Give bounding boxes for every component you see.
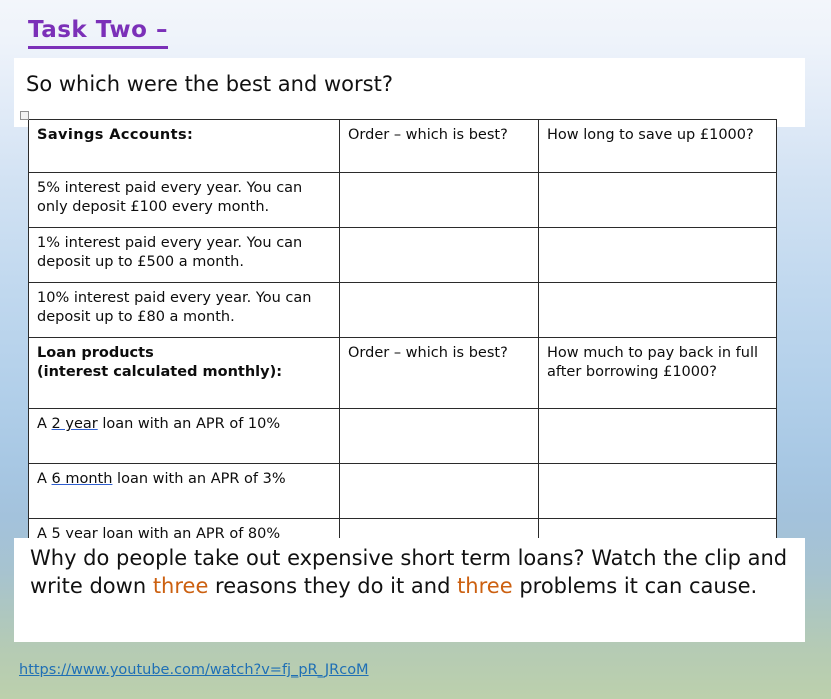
table-row: A 2 year loan with an APR of 10% [29,409,777,464]
savings-order-cell[interactable] [340,283,539,338]
loan-description: A 2 year loan with an APR of 10% [29,409,340,464]
loan-suffix: loan with an APR of 10% [98,416,280,432]
table-row: 10% interest paid every year. You can de… [29,283,777,338]
table-row-loan-header: Loan products (interest calculated month… [29,338,777,409]
loan-answer-cell[interactable] [539,409,777,464]
savings-header-duration: How long to save up £1000? [539,120,777,173]
savings-header-label: Savings Accounts: [29,120,340,173]
loan-term: 2 year [52,416,98,432]
loan-term: 6 month [52,471,113,487]
loan-header-label: Loan products (interest calculated month… [29,338,340,409]
slide-title-block: Task Two – [28,18,448,49]
savings-description: 5% interest paid every year. You can onl… [29,173,340,228]
table-row: A 6 month loan with an APR of 3% [29,464,777,519]
intro-panel: So which were the best and worst? [14,58,805,127]
savings-header-order: Order – which is best? [340,120,539,173]
loan-suffix: loan with an APR of 3% [112,471,285,487]
task-emphasis-1: three [153,574,209,598]
loan-answer-cell[interactable] [539,464,777,519]
loan-order-cell[interactable] [340,464,539,519]
loan-header-repayment: How much to pay back in full after borro… [539,338,777,409]
loan-order-cell[interactable] [340,409,539,464]
savings-description: 10% interest paid every year. You can de… [29,283,340,338]
intro-question: So which were the best and worst? [26,72,393,96]
loan-prefix: A [37,471,52,487]
savings-answer-cell[interactable] [539,228,777,283]
task-part-3: problems it can cause. [513,574,758,598]
table-row: 5% interest paid every year. You can onl… [29,173,777,228]
comparison-table: Savings Accounts: Order – which is best?… [28,119,777,574]
loan-header-line2: (interest calculated monthly): [37,364,282,380]
task-instructions: Why do people take out expensive short t… [30,545,795,600]
task-emphasis-2: three [457,574,513,598]
selection-handle-top-left[interactable] [20,111,29,120]
loan-description: A 6 month loan with an APR of 3% [29,464,340,519]
loan-prefix: A [37,416,52,432]
video-link[interactable]: https://www.youtube.com/watch?v=fj_pR_JR… [19,662,369,678]
task-part-2: reasons they do it and [208,574,457,598]
savings-order-cell[interactable] [340,173,539,228]
comparison-table-wrapper[interactable]: Savings Accounts: Order – which is best?… [28,119,725,574]
table-row: 1% interest paid every year. You can dep… [29,228,777,283]
task-panel: Why do people take out expensive short t… [14,538,805,642]
table-row-savings-header: Savings Accounts: Order – which is best?… [29,120,777,173]
savings-answer-cell[interactable] [539,173,777,228]
savings-order-cell[interactable] [340,228,539,283]
page-title: Task Two – [28,18,168,49]
loan-header-line1: Loan products [37,345,154,361]
savings-description: 1% interest paid every year. You can dep… [29,228,340,283]
loan-header-order: Order – which is best? [340,338,539,409]
savings-answer-cell[interactable] [539,283,777,338]
